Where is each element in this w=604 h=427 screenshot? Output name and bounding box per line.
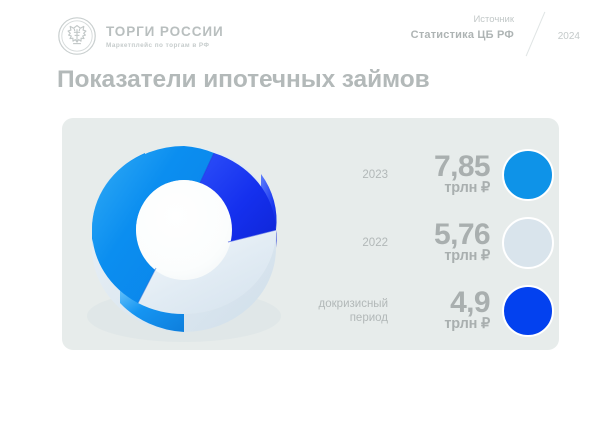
color-swatch-circle-icon: [502, 285, 554, 337]
legend-item-precrisis[interactable]: докризисный период 4,9 трлн ₽: [312, 280, 554, 342]
legend-label: 2023: [362, 168, 388, 182]
page-header: ТОРГИ РОССИИ Маркетплейс по торгам в РФ …: [0, 0, 604, 62]
legend-item-2023[interactable]: 2023 7,85 трлн ₽: [312, 144, 554, 206]
source-value: Статистика ЦБ РФ: [411, 29, 514, 41]
legend-unit: трлн ₽: [398, 249, 490, 265]
brand-subtitle: Маркетплейс по торгам в РФ: [106, 42, 224, 51]
legend-item-2022[interactable]: 2022 5,76 трлн ₽: [312, 212, 554, 274]
page-title: Показатели ипотечных займов: [57, 66, 430, 94]
source-year: 2024: [558, 31, 580, 42]
legend-value: 4,9: [398, 289, 490, 317]
source-block: Источник Статистика ЦБ РФ 2024: [314, 14, 604, 58]
legend-label: докризисный период: [319, 297, 388, 326]
legend-unit: трлн ₽: [398, 181, 490, 197]
diagonal-divider: [526, 12, 546, 57]
color-swatch-circle-icon: [502, 217, 554, 269]
legend-value: 5,76: [398, 221, 490, 249]
legend-value: 7,85: [398, 153, 490, 181]
legend-unit: трлн ₽: [398, 317, 490, 333]
donut-chart: [68, 120, 300, 348]
eagle-emblem-icon: [57, 16, 97, 56]
chart-card: 2023 7,85 трлн ₽ 2022 5,76 трлн ₽ докриз…: [62, 118, 559, 350]
brand-logo[interactable]: ТОРГИ РОССИИ Маркетплейс по торгам в РФ: [57, 16, 224, 56]
legend-label: 2022: [362, 236, 388, 250]
brand-title: ТОРГИ РОССИИ: [106, 24, 224, 40]
color-swatch-circle-icon: [502, 149, 554, 201]
legend-figure: 7,85 трлн ₽: [398, 153, 490, 198]
source-label: Источник: [473, 14, 514, 25]
brand-text: ТОРГИ РОССИИ Маркетплейс по торгам в РФ: [106, 22, 224, 51]
legend-figure: 4,9 трлн ₽: [398, 289, 490, 334]
legend-figure: 5,76 трлн ₽: [398, 221, 490, 266]
chart-legend: 2023 7,85 трлн ₽ 2022 5,76 трлн ₽ докриз…: [312, 132, 554, 338]
